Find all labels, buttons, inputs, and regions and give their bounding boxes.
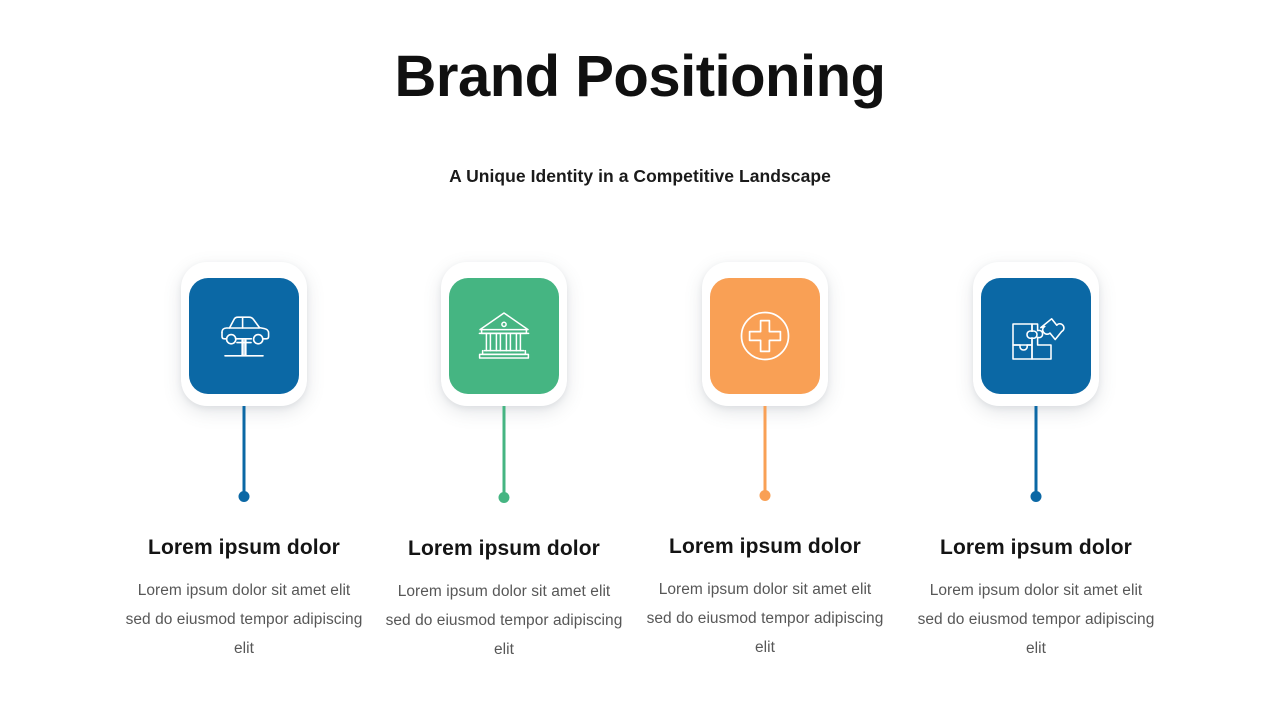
connector-stem-4 <box>1035 406 1038 496</box>
feature-column-1[interactable]: Lorem ipsum dolor Lorem ipsum dolor sit … <box>114 262 374 662</box>
feature-description-3: Lorem ipsum dolor sit amet elit sed do e… <box>645 575 885 662</box>
icon-card-1[interactable] <box>181 262 307 406</box>
icon-tile-3[interactable] <box>710 278 820 394</box>
icon-card-3[interactable] <box>702 262 828 406</box>
feature-columns: Lorem ipsum dolor Lorem ipsum dolor sit … <box>0 262 1280 662</box>
medical-cross-circle-icon <box>735 306 795 366</box>
feature-description-1: Lorem ipsum dolor sit amet elit sed do e… <box>124 576 364 663</box>
feature-title-4: Lorem ipsum dolor <box>916 535 1156 560</box>
connector-dot-2 <box>499 492 510 503</box>
page-title: Brand Positioning <box>0 44 1280 111</box>
icon-tile-4[interactable] <box>981 278 1091 394</box>
slide-canvas: Brand Positioning A Unique Identity in a… <box>0 0 1280 720</box>
bank-building-icon <box>474 307 534 365</box>
icon-tile-2[interactable] <box>449 278 559 394</box>
car-on-lift-icon <box>213 307 275 365</box>
icon-card-2[interactable] <box>441 262 567 406</box>
feature-column-2[interactable]: Lorem ipsum dolor Lorem ipsum dolor sit … <box>374 262 634 662</box>
feature-text-1: Lorem ipsum dolor Lorem ipsum dolor sit … <box>124 535 364 664</box>
feature-description-2: Lorem ipsum dolor sit amet elit sed do e… <box>384 577 624 664</box>
feature-text-4: Lorem ipsum dolor Lorem ipsum dolor sit … <box>916 535 1156 664</box>
feature-description-4: Lorem ipsum dolor sit amet elit sed do e… <box>916 576 1156 663</box>
feature-text-3: Lorem ipsum dolor Lorem ipsum dolor sit … <box>645 534 885 663</box>
icon-tile-1[interactable] <box>189 278 299 394</box>
feature-text-2: Lorem ipsum dolor Lorem ipsum dolor sit … <box>384 536 624 665</box>
connector-stem-2 <box>503 406 506 497</box>
feature-column-3[interactable]: Lorem ipsum dolor Lorem ipsum dolor sit … <box>635 262 895 662</box>
feature-title-1: Lorem ipsum dolor <box>124 535 364 560</box>
feature-title-3: Lorem ipsum dolor <box>645 534 885 559</box>
feature-title-2: Lorem ipsum dolor <box>384 536 624 561</box>
page-subtitle: A Unique Identity in a Competitive Lands… <box>0 166 1280 187</box>
connector-dot-4 <box>1031 491 1042 502</box>
connector-dot-1 <box>239 491 250 502</box>
puzzle-pieces-icon <box>1005 306 1067 366</box>
connector-dot-3 <box>760 490 771 501</box>
feature-column-4[interactable]: Lorem ipsum dolor Lorem ipsum dolor sit … <box>906 262 1166 662</box>
connector-stem-3 <box>764 406 767 495</box>
connector-stem-1 <box>243 406 246 496</box>
icon-card-4[interactable] <box>973 262 1099 406</box>
